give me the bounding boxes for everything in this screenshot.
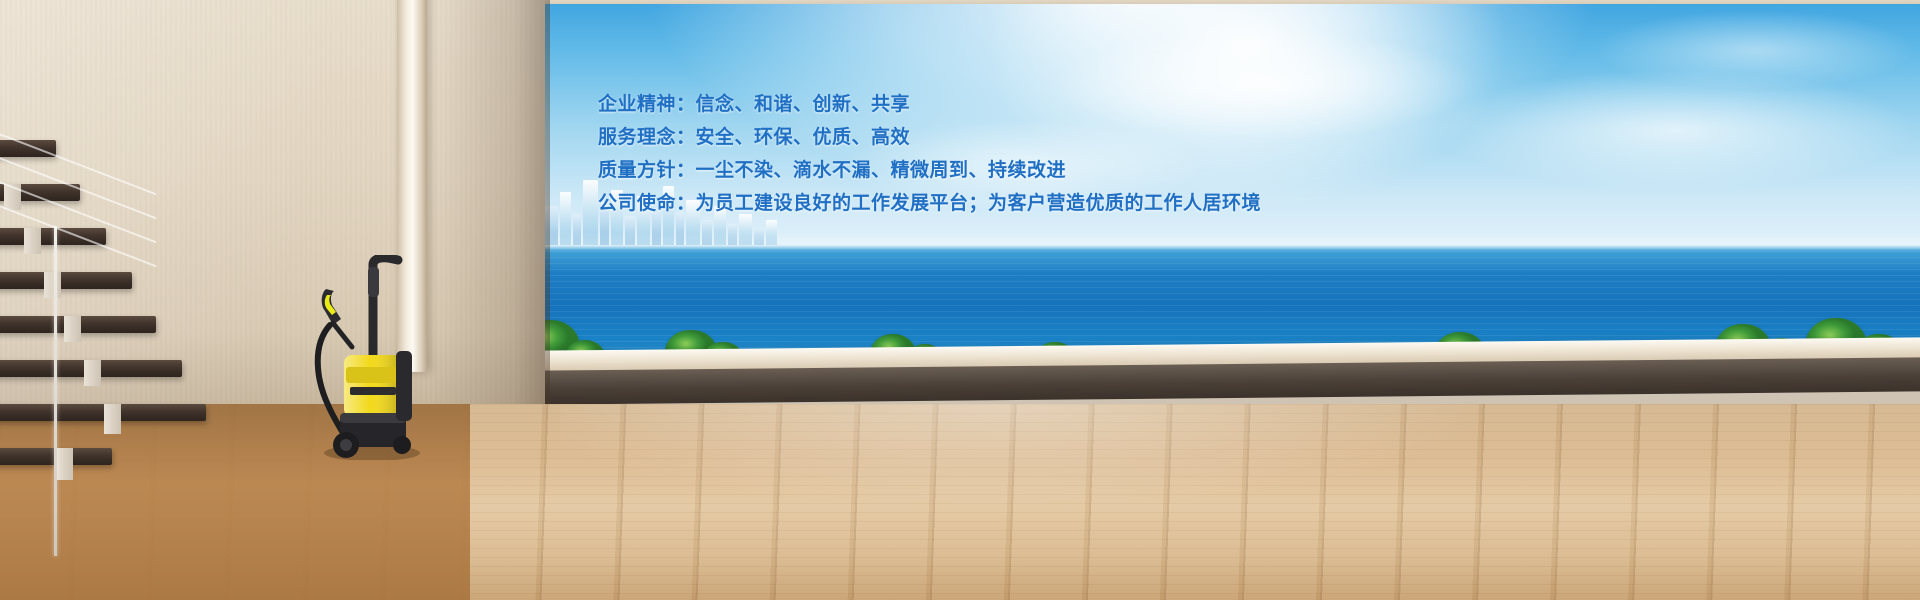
staircase	[0, 140, 230, 480]
values-line-3: 质量方针：一尘不染、滴水不漏、精微周到、持续改进	[598, 154, 1358, 187]
values-line-4: 公司使命：为员工建设良好的工作发展平台；为客户营造优质的工作人居环境	[598, 187, 1358, 220]
values-line-1: 企业精神：信念、和谐、创新、共享	[598, 88, 1358, 121]
values-line-2: 服务理念：安全、环保、优质、高效	[598, 121, 1358, 154]
floor-reflection	[560, 404, 1660, 600]
window-frame-top	[397, 0, 1920, 4]
cloud	[1595, 10, 1915, 90]
glass-rail-post	[54, 226, 57, 556]
company-values-banner: 企业精神：信念、和谐、创新、共享 服务理念：安全、环保、优质、高效 质量方针：一…	[0, 0, 1920, 600]
pressure-washer	[310, 255, 425, 460]
company-values-text: 企业精神：信念、和谐、创新、共享 服务理念：安全、环保、优质、高效 质量方针：一…	[598, 88, 1358, 220]
wall-corner-shadow	[430, 0, 550, 470]
cloud	[1435, 70, 1915, 190]
